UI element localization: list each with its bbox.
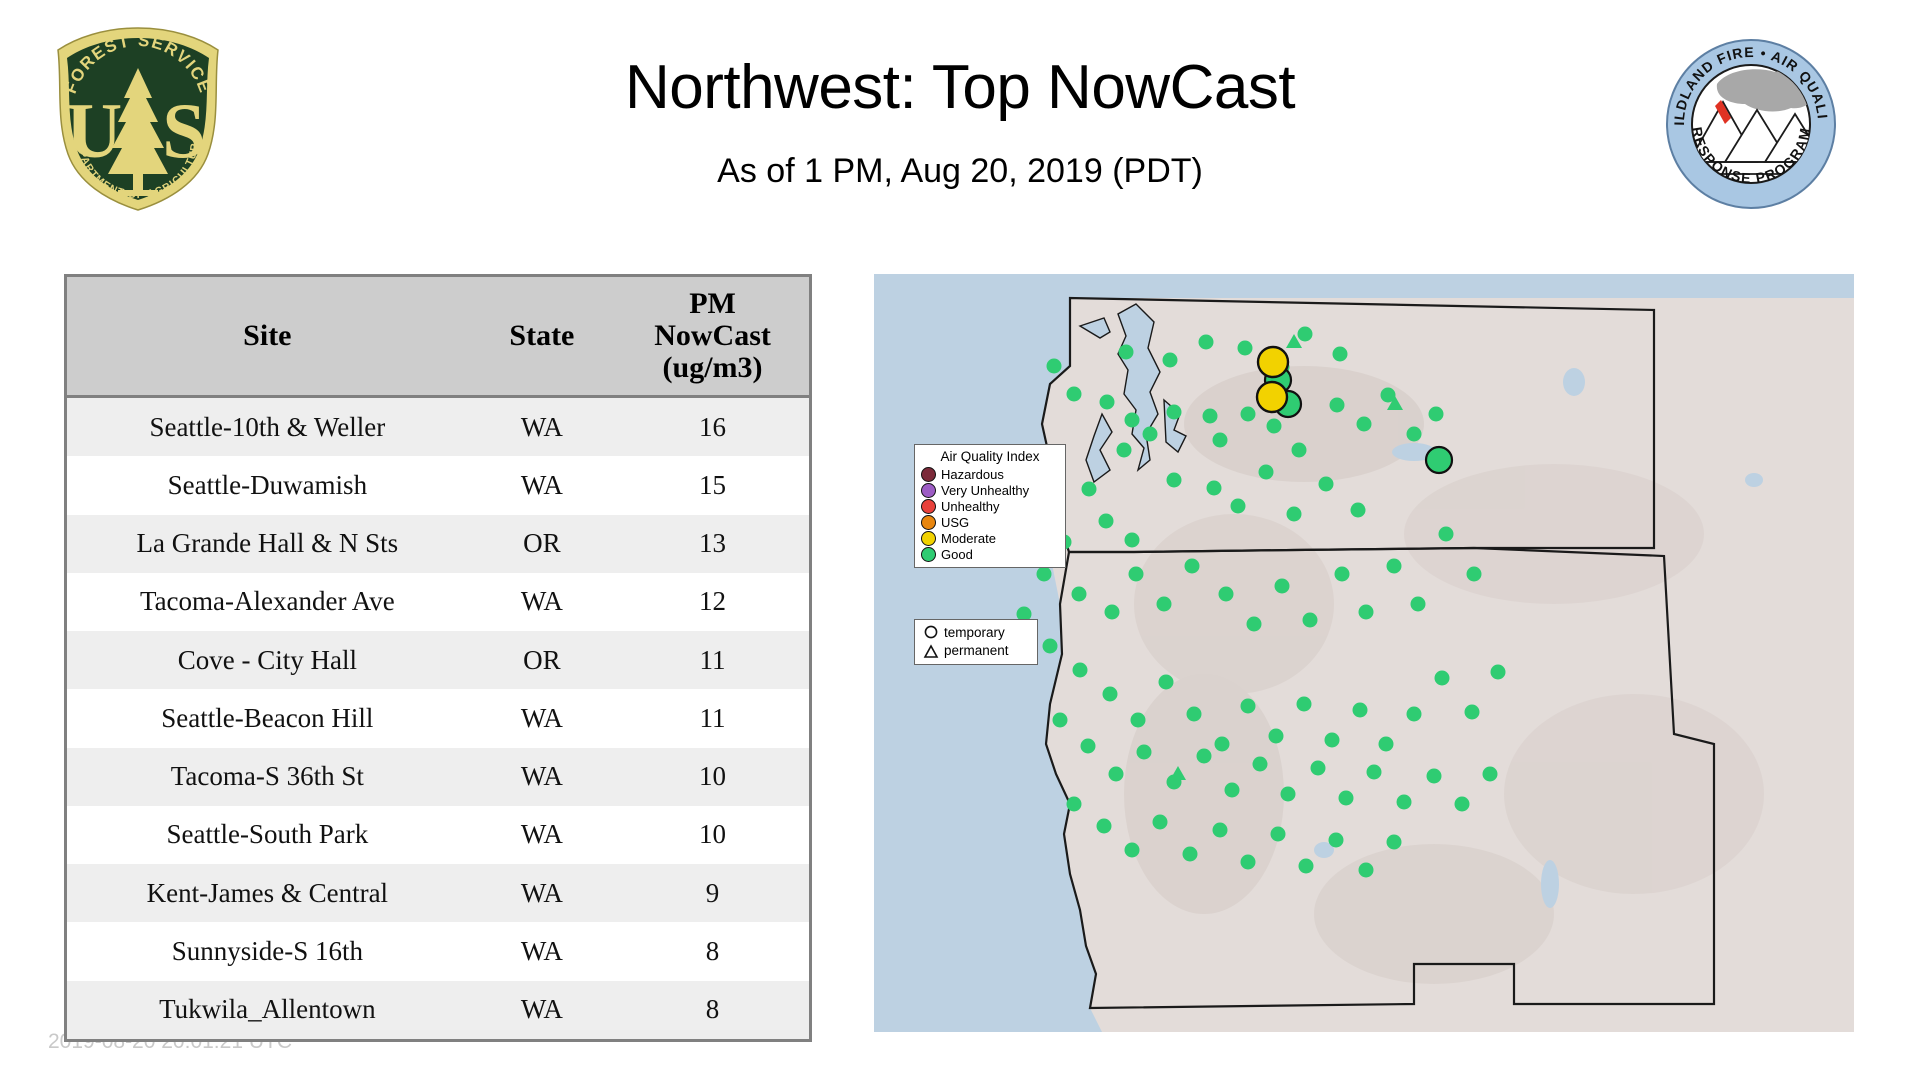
table-row: Cove - City HallOR11 bbox=[67, 631, 809, 689]
aqi-color-swatch-icon bbox=[921, 531, 936, 546]
monitor-marker-good[interactable] bbox=[1267, 419, 1282, 434]
aqi-legend-label: Very Unhealthy bbox=[941, 483, 1029, 498]
monitor-marker-good[interactable] bbox=[1163, 353, 1178, 368]
pm-cell: 9 bbox=[616, 864, 809, 922]
monitor-marker-good[interactable] bbox=[1247, 617, 1262, 632]
aqi-color-swatch-icon bbox=[921, 467, 936, 482]
pm-cell: 15 bbox=[616, 456, 809, 514]
state-cell: WA bbox=[468, 397, 616, 457]
monitor-marker-good[interactable] bbox=[1185, 559, 1200, 574]
triangle-outline-icon bbox=[921, 643, 941, 660]
table-header: Site State PM NowCast (ug/m3) bbox=[67, 277, 809, 397]
aqi-legend-row: Good bbox=[921, 546, 1059, 562]
aqi-legend-row: Unhealthy bbox=[921, 498, 1059, 514]
monitor-marker-good[interactable] bbox=[1292, 443, 1307, 458]
monitor-marker-good[interactable] bbox=[1465, 705, 1480, 720]
legend-row-temporary: temporary bbox=[921, 624, 1031, 642]
monitor-marker-good[interactable] bbox=[1281, 787, 1296, 802]
monitor-marker-good[interactable] bbox=[1329, 833, 1344, 848]
table-body: Seattle-10th & WellerWA16Seattle-Duwamis… bbox=[67, 397, 809, 1040]
legend-label-permanent: permanent bbox=[944, 643, 1009, 659]
table-row: La Grande Hall & N StsOR13 bbox=[67, 515, 809, 573]
state-cell: WA bbox=[468, 806, 616, 864]
table-header-row: Site State PM NowCast (ug/m3) bbox=[67, 277, 809, 397]
column-header-site: Site bbox=[67, 277, 468, 397]
site-cell: Cove - City Hall bbox=[67, 631, 468, 689]
circle-outline-icon bbox=[921, 625, 941, 642]
aqi-color-swatch-icon bbox=[921, 499, 936, 514]
monitor-marker-good[interactable] bbox=[1253, 757, 1268, 772]
monitor-marker-good[interactable] bbox=[1143, 427, 1158, 442]
aqi-legend-row: Moderate bbox=[921, 530, 1059, 546]
table-row: Tacoma-S 36th StWA10 bbox=[67, 748, 809, 806]
pm-cell: 11 bbox=[616, 689, 809, 747]
pm-cell: 10 bbox=[616, 806, 809, 864]
monitor-marker-good[interactable] bbox=[1491, 665, 1506, 680]
state-cell: WA bbox=[468, 922, 616, 980]
pm-cell: 13 bbox=[616, 515, 809, 573]
monitor-marker-good[interactable] bbox=[1339, 791, 1354, 806]
aqi-legend-label: USG bbox=[941, 515, 969, 530]
state-cell: OR bbox=[468, 515, 616, 573]
monitor-marker-good[interactable] bbox=[1411, 597, 1426, 612]
monitor-marker-good[interactable] bbox=[1407, 707, 1422, 722]
monitor-marker-good[interactable] bbox=[1231, 499, 1246, 514]
monitor-marker-good[interactable] bbox=[1325, 733, 1340, 748]
monitor-marker-good[interactable] bbox=[1103, 687, 1118, 702]
monitor-marker-good[interactable] bbox=[1167, 405, 1182, 420]
monitor-marker-good[interactable] bbox=[1125, 533, 1140, 548]
state-cell: WA bbox=[468, 689, 616, 747]
monitor-marker-good[interactable] bbox=[1137, 745, 1152, 760]
monitor-marker-good[interactable] bbox=[1219, 587, 1234, 602]
monitor-marker-good[interactable] bbox=[1330, 398, 1345, 413]
monitor-marker-good[interactable] bbox=[1435, 671, 1450, 686]
monitor-marker-good[interactable] bbox=[1097, 819, 1112, 834]
table-row: Seattle-South ParkWA10 bbox=[67, 806, 809, 864]
monitor-marker-good[interactable] bbox=[1100, 395, 1115, 410]
monitor-marker-good[interactable] bbox=[1099, 514, 1114, 529]
monitor-marker-good[interactable] bbox=[1199, 335, 1214, 350]
monitor-marker-good[interactable] bbox=[1259, 465, 1274, 480]
monitor-marker-good[interactable] bbox=[1427, 769, 1442, 784]
table-row: Sunnyside-S 16thWA8 bbox=[67, 922, 809, 980]
monitor-marker-good[interactable] bbox=[1125, 413, 1140, 428]
pm-cell: 11 bbox=[616, 631, 809, 689]
monitor-marker-good[interactable] bbox=[1269, 729, 1284, 744]
monitor-marker-good[interactable] bbox=[1387, 835, 1402, 850]
monitor-marker-good[interactable] bbox=[1455, 797, 1470, 812]
aqi-color-swatch-icon bbox=[921, 547, 936, 562]
monitor-marker-good[interactable] bbox=[1333, 347, 1348, 362]
site-cell: Seattle-Duwamish bbox=[67, 456, 468, 514]
monitor-marker-good[interactable] bbox=[1359, 605, 1374, 620]
monitor-marker-good[interactable] bbox=[1167, 473, 1182, 488]
monitor-marker-good[interactable] bbox=[1353, 703, 1368, 718]
nowcast-table: Site State PM NowCast (ug/m3) Seattle-10… bbox=[67, 277, 809, 1039]
state-cell: WA bbox=[468, 573, 616, 631]
aqi-legend-label: Hazardous bbox=[941, 467, 1004, 482]
monitor-marker-good[interactable] bbox=[1359, 863, 1374, 878]
pm-cell: 8 bbox=[616, 981, 809, 1039]
site-cell: Tukwila_Allentown bbox=[67, 981, 468, 1039]
monitor-marker-good[interactable] bbox=[1299, 859, 1314, 874]
pm-header-line-1: PM bbox=[689, 287, 736, 320]
aqi-legend-title: Air Quality Index bbox=[921, 449, 1059, 464]
nowcast-table-container: Site State PM NowCast (ug/m3) Seattle-10… bbox=[64, 274, 812, 1042]
monitor-marker-good[interactable] bbox=[1131, 713, 1146, 728]
pm-cell: 8 bbox=[616, 922, 809, 980]
monitor-marker-good[interactable] bbox=[1311, 761, 1326, 776]
table-row: Seattle-10th & WellerWA16 bbox=[67, 397, 809, 457]
site-cell: Tacoma-Alexander Ave bbox=[67, 573, 468, 631]
monitor-marker-good[interactable] bbox=[1439, 527, 1454, 542]
page-subtitle: As of 1 PM, Aug 20, 2019 (PDT) bbox=[0, 152, 1920, 191]
monitor-marker-good[interactable] bbox=[1407, 427, 1422, 442]
aqi-legend-row: Hazardous bbox=[921, 466, 1059, 482]
table-row: Seattle-DuwamishWA15 bbox=[67, 456, 809, 514]
legend-label-temporary: temporary bbox=[944, 625, 1005, 641]
pm-header-line-3: (ug/m3) bbox=[663, 351, 763, 384]
monitor-marker-good[interactable] bbox=[1213, 433, 1228, 448]
monitor-marker-good[interactable] bbox=[1238, 341, 1253, 356]
monitor-marker-good[interactable] bbox=[1225, 783, 1240, 798]
monitor-marker-good[interactable] bbox=[1241, 699, 1256, 714]
table-row: Tacoma-Alexander AveWA12 bbox=[67, 573, 809, 631]
monitor-marker-good[interactable] bbox=[1379, 737, 1394, 752]
legend-row-permanent: permanent bbox=[921, 642, 1031, 660]
monitor-marker-good[interactable] bbox=[1187, 707, 1202, 722]
monitor-marker-moderate[interactable] bbox=[1258, 347, 1288, 377]
monitor-marker-good[interactable] bbox=[1319, 477, 1334, 492]
monitor-marker-good[interactable] bbox=[1047, 359, 1062, 374]
monitor-marker-good[interactable] bbox=[1081, 739, 1096, 754]
monitor-marker-good[interactable] bbox=[1082, 482, 1097, 497]
aqi-legend-label: Unhealthy bbox=[941, 499, 1000, 514]
state-cell: WA bbox=[468, 748, 616, 806]
state-cell: WA bbox=[468, 981, 616, 1039]
monitor-marker-good[interactable] bbox=[1357, 417, 1372, 432]
monitor-marker-good[interactable] bbox=[1207, 481, 1222, 496]
site-cell: Seattle-South Park bbox=[67, 806, 468, 864]
column-header-pm-nowcast: PM NowCast (ug/m3) bbox=[616, 277, 809, 397]
monitor-marker-good[interactable] bbox=[1335, 567, 1350, 582]
monitor-marker-good[interactable] bbox=[1298, 327, 1313, 342]
monitor-marker-good[interactable] bbox=[1387, 559, 1402, 574]
monitor-marker-good[interactable] bbox=[1183, 847, 1198, 862]
monitor-marker-good[interactable] bbox=[1119, 345, 1134, 360]
site-cell: Kent-James & Central bbox=[67, 864, 468, 922]
monitor-marker-good[interactable] bbox=[1072, 587, 1087, 602]
monitor-marker-good[interactable] bbox=[1241, 407, 1256, 422]
monitor-marker-good[interactable] bbox=[1351, 503, 1366, 518]
monitor-marker-good[interactable] bbox=[1105, 605, 1120, 620]
monitor-marker-good[interactable] bbox=[1053, 713, 1068, 728]
aqi-legend-row: Very Unhealthy bbox=[921, 482, 1059, 498]
monitor-marker-good[interactable] bbox=[1125, 843, 1140, 858]
monitor-marker-good[interactable] bbox=[1303, 613, 1318, 628]
monitor-marker-good[interactable] bbox=[1067, 797, 1082, 812]
monitor-marker-good[interactable] bbox=[1067, 387, 1082, 402]
monitor-marker-good[interactable] bbox=[1467, 567, 1482, 582]
monitor-marker-good[interactable] bbox=[1275, 579, 1290, 594]
monitor-marker-moderate[interactable] bbox=[1257, 382, 1287, 412]
monitor-marker-good[interactable] bbox=[1037, 567, 1052, 582]
site-cell: Sunnyside-S 16th bbox=[67, 922, 468, 980]
column-header-state: State bbox=[468, 277, 616, 397]
state-cell: WA bbox=[468, 456, 616, 514]
pm-cell: 10 bbox=[616, 748, 809, 806]
monitor-marker-good[interactable] bbox=[1153, 815, 1168, 830]
monitor-marker-good[interactable] bbox=[1117, 443, 1132, 458]
monitor-marker-good[interactable] bbox=[1241, 855, 1256, 870]
monitor-marker-good[interactable] bbox=[1215, 737, 1230, 752]
site-cell: Seattle-Beacon Hill bbox=[67, 689, 468, 747]
monitor-marker-good[interactable] bbox=[1287, 507, 1302, 522]
pm-cell: 16 bbox=[616, 397, 809, 457]
monitor-marker-good[interactable] bbox=[1397, 795, 1412, 810]
aqi-legend: Air Quality Index HazardousVery Unhealth… bbox=[914, 444, 1066, 568]
monitor-marker-good[interactable] bbox=[1203, 409, 1218, 424]
monitor-marker-good[interactable] bbox=[1483, 767, 1498, 782]
page-title: Northwest: Top NowCast bbox=[0, 52, 1920, 123]
aqi-legend-label: Good bbox=[941, 547, 973, 562]
pm-cell: 12 bbox=[616, 573, 809, 631]
monitor-marker-good[interactable] bbox=[1197, 749, 1212, 764]
monitor-marker-good[interactable] bbox=[1213, 823, 1228, 838]
site-type-legend: temporary permanent bbox=[914, 619, 1038, 665]
aqi-color-swatch-icon bbox=[921, 515, 936, 530]
table-row: Seattle-Beacon HillWA11 bbox=[67, 689, 809, 747]
monitor-marker-good[interactable] bbox=[1157, 597, 1172, 612]
site-cell: Tacoma-S 36th St bbox=[67, 748, 468, 806]
state-cell: OR bbox=[468, 631, 616, 689]
monitor-marker-good-highlighted[interactable] bbox=[1426, 447, 1452, 473]
monitor-marker-good[interactable] bbox=[1073, 663, 1088, 678]
monitor-marker-good[interactable] bbox=[1043, 639, 1058, 654]
aqi-legend-row: USG bbox=[921, 514, 1059, 530]
aqi-color-swatch-icon bbox=[921, 483, 936, 498]
monitor-marker-good[interactable] bbox=[1109, 767, 1124, 782]
monitor-marker-good[interactable] bbox=[1367, 765, 1382, 780]
table-row: Tukwila_AllentownWA8 bbox=[67, 981, 809, 1039]
aqi-legend-label: Moderate bbox=[941, 531, 996, 546]
monitor-marker-good[interactable] bbox=[1159, 675, 1174, 690]
monitor-marker-good[interactable] bbox=[1429, 407, 1444, 422]
monitor-marker-good[interactable] bbox=[1297, 697, 1312, 712]
table-row: Kent-James & CentralWA9 bbox=[67, 864, 809, 922]
site-cell: La Grande Hall & N Sts bbox=[67, 515, 468, 573]
site-cell: Seattle-10th & Weller bbox=[67, 397, 468, 457]
pm-header-line-2: NowCast bbox=[654, 319, 771, 352]
northwest-aqi-map[interactable]: Air Quality Index HazardousVery Unhealth… bbox=[874, 274, 1854, 1032]
state-cell: WA bbox=[468, 864, 616, 922]
monitor-marker-good[interactable] bbox=[1129, 567, 1144, 582]
monitor-marker-good[interactable] bbox=[1271, 827, 1286, 842]
